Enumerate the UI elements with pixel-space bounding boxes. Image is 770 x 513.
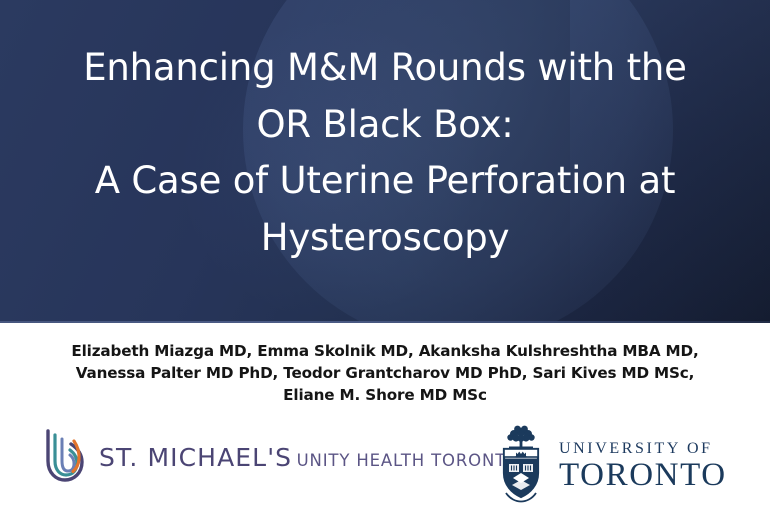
title-slide: Enhancing M&M Rounds with the OR Black B… — [0, 0, 770, 513]
slide-footer-area: Elizabeth Miazga MD, Emma Skolnik MD, Ak… — [0, 323, 770, 513]
st-michaels-logo: ST. MICHAEL'S UNITY HEALTH TORONTO — [40, 425, 520, 487]
uoft-wordmark: UNIVERSITY OF TORONTO — [559, 433, 727, 493]
presentation-title: Enhancing M&M Rounds with the OR Black B… — [0, 40, 770, 266]
logo-row: ST. MICHAEL'S UNITY HEALTH TORONTO — [0, 423, 770, 513]
uoft-line-university-of: UNIVERSITY OF — [559, 439, 727, 458]
author-list: Elizabeth Miazga MD, Emma Skolnik MD, Ak… — [25, 340, 745, 406]
st-michaels-name: ST. MICHAEL'S — [99, 443, 292, 472]
st-michaels-subtitle: UNITY HEALTH TORONTO — [297, 451, 520, 470]
st-michaels-flame-mark-icon — [40, 425, 90, 487]
st-michaels-wordmark: ST. MICHAEL'S UNITY HEALTH TORONTO — [99, 442, 520, 471]
university-of-toronto-logo: UNIVERSITY OF TORONTO — [493, 423, 727, 503]
title-band-background: Enhancing M&M Rounds with the OR Black B… — [0, 0, 770, 323]
uoft-line-toronto: TORONTO — [559, 458, 727, 493]
uoft-crest-icon — [493, 423, 549, 503]
